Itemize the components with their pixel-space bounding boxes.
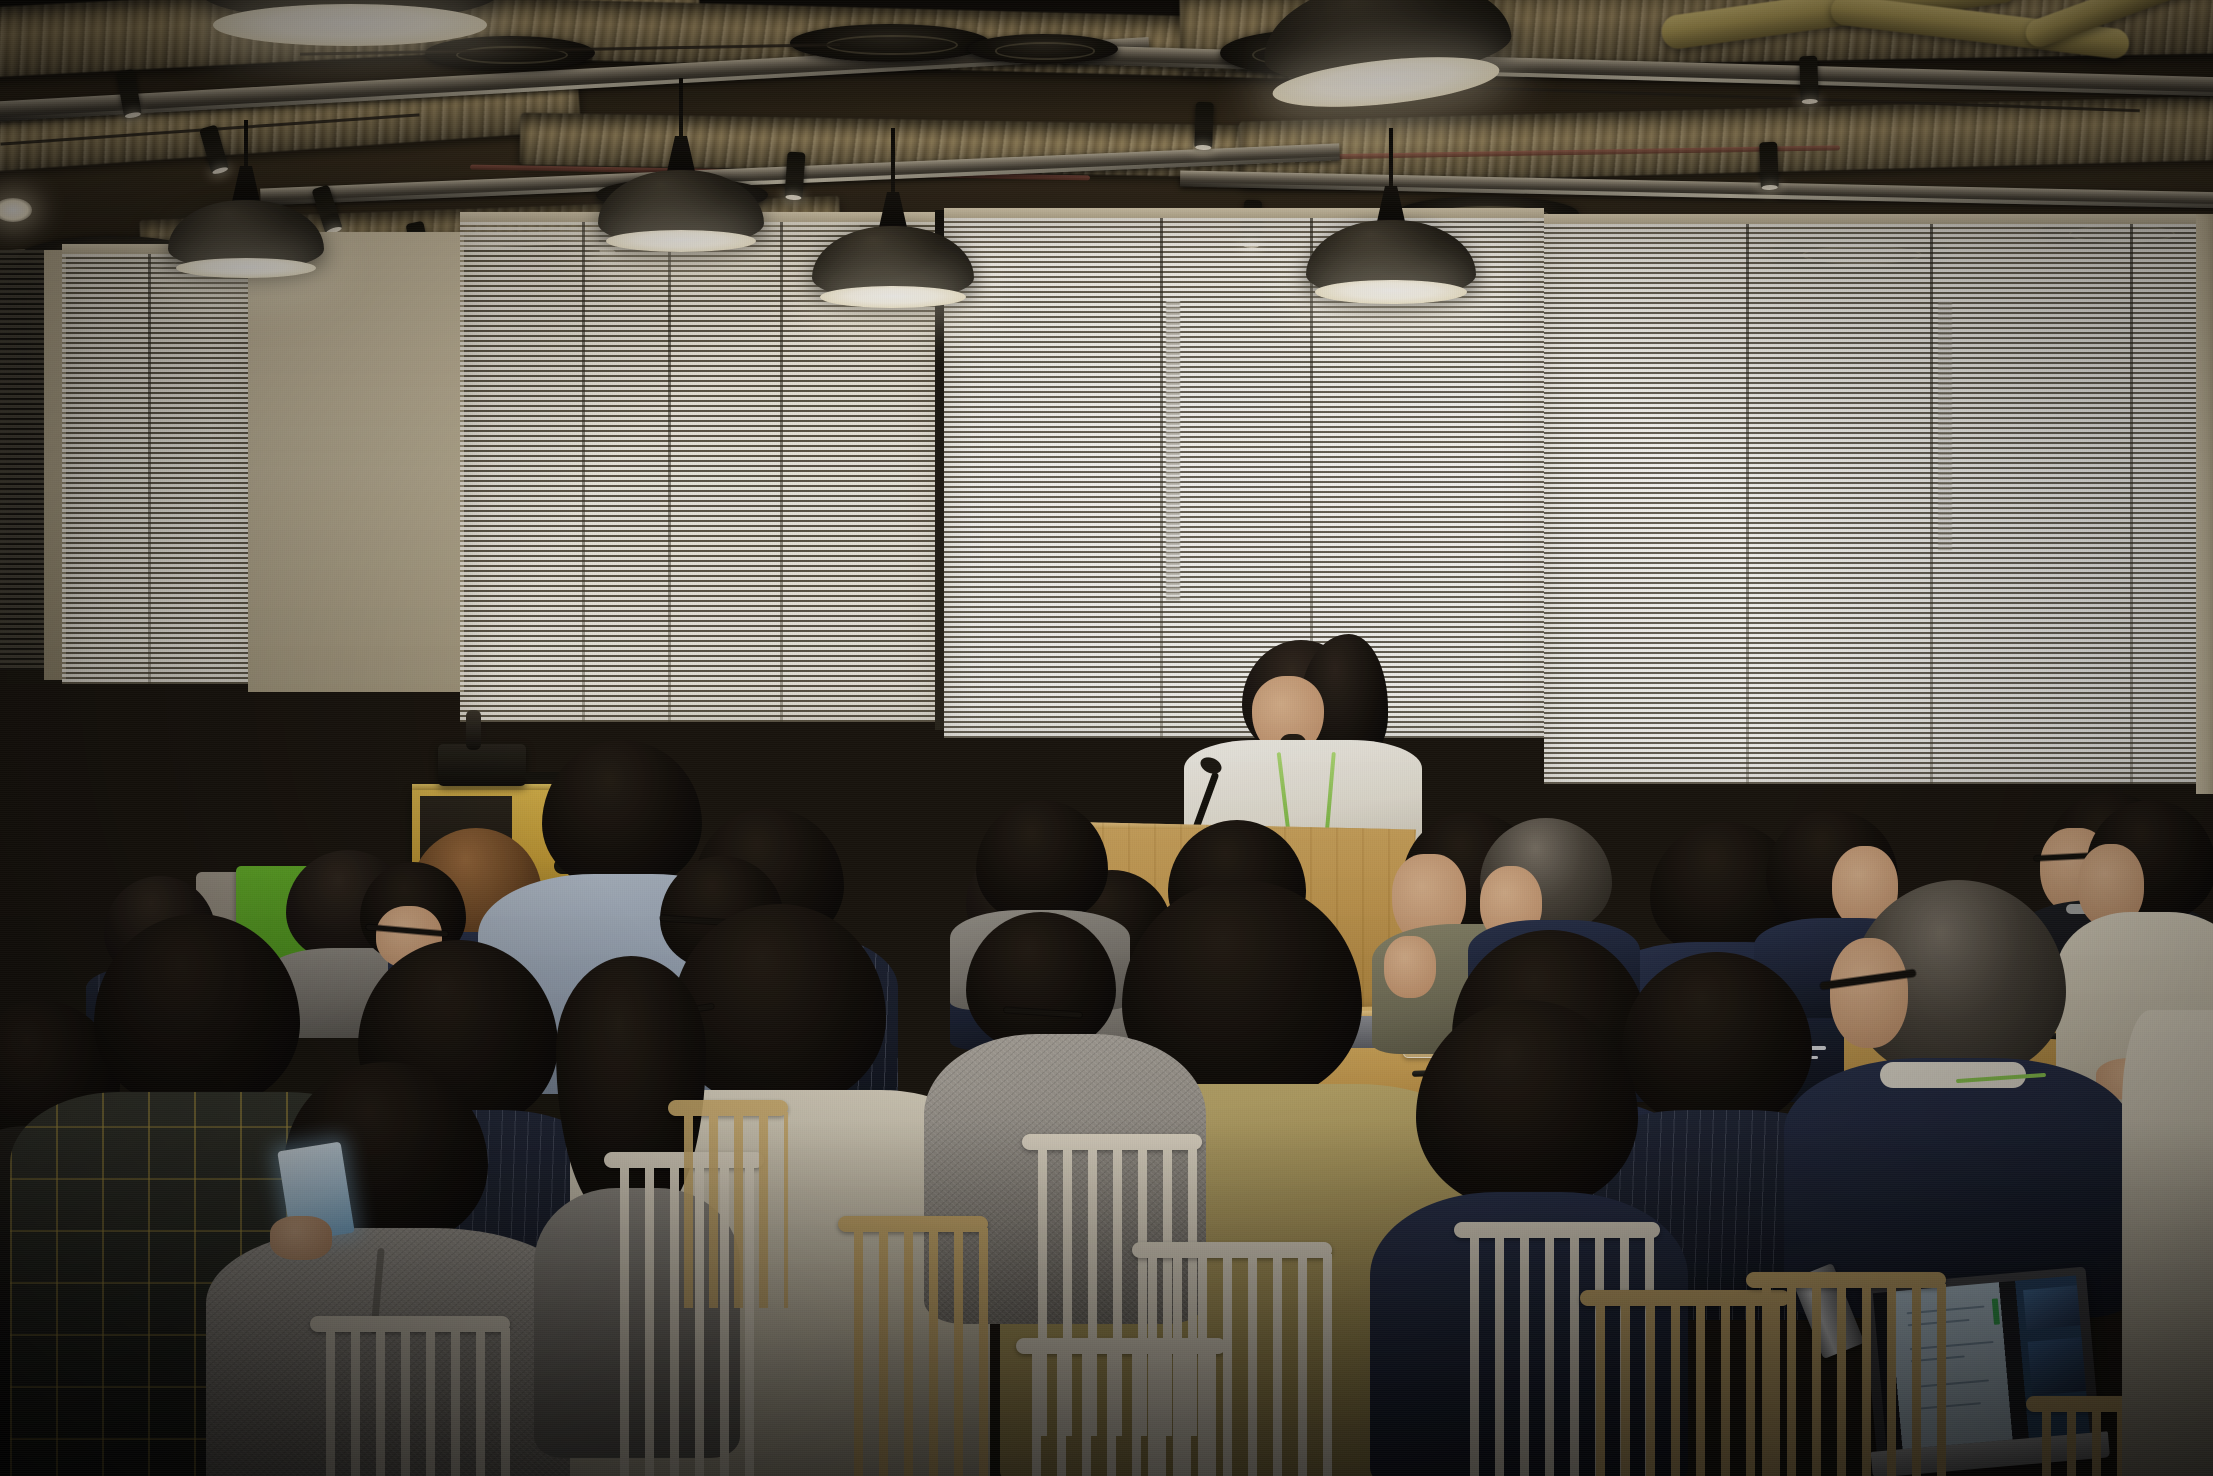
blind-seam (1746, 224, 1749, 784)
lamp-cord (679, 78, 683, 142)
blind-seam (582, 222, 585, 722)
blind-light-slit (1166, 300, 1180, 600)
face (1830, 938, 1908, 1048)
blind-seam (1930, 224, 1933, 784)
photo-scene: Evening tech meetup presentation in an o… (0, 0, 2213, 1476)
sidebar-photo-thumb (2023, 1285, 2080, 1330)
lamp-cord (891, 128, 895, 198)
chair-spindles (1746, 1284, 1946, 1476)
white-chair[interactable] (1132, 1242, 1332, 1476)
lamp-glow (213, 4, 487, 46)
chair-spindles (310, 1328, 510, 1476)
track-spotlight (1799, 56, 1819, 103)
blind-light-slit (1938, 300, 1952, 550)
pendant-lamp-center (812, 128, 974, 308)
lamp-cord (1389, 128, 1393, 192)
green-highlight-marker (1992, 1298, 2000, 1324)
blind-seam (780, 222, 783, 722)
white-chair[interactable] (310, 1316, 510, 1476)
head (966, 912, 1116, 1052)
pendant-lamp-center-left (598, 78, 764, 258)
partition-wall-left (248, 232, 464, 692)
lamp-glow (176, 258, 316, 278)
pendant-lamp-right (1306, 128, 1476, 308)
blind-seam (1160, 218, 1163, 738)
pendant-lamp-top-left (200, 0, 500, 90)
chair-spindles (668, 1112, 788, 1308)
lamp-glow (820, 286, 966, 308)
sidebar-photo-thumb (2028, 1337, 2087, 1396)
head (1416, 1000, 1638, 1210)
track-spotlight (1194, 102, 1214, 149)
handheld-microphone[interactable] (466, 710, 481, 750)
lamp-glow (606, 230, 756, 252)
track-spotlight (1759, 142, 1779, 189)
blind-seam (668, 222, 671, 722)
pendant-lamp-top-right (1262, 10, 1510, 130)
hand-holding-phone (270, 1216, 332, 1260)
wall-pillar (2196, 214, 2213, 794)
wooden-chair[interactable] (1746, 1272, 1946, 1476)
blind-seam (2130, 224, 2133, 784)
wooden-chair[interactable] (668, 1100, 788, 1300)
window-blinds-right (1544, 224, 2213, 784)
small-spot-light (0, 198, 32, 222)
wooden-chair[interactable] (838, 1216, 988, 1476)
torso (2122, 1010, 2213, 1476)
round-vent-diffuser (968, 34, 1118, 64)
blind-seam (148, 254, 151, 684)
dark-window-panel (0, 250, 48, 670)
track-spotlight (784, 151, 805, 198)
audience-member-edge-right (2122, 1010, 2213, 1476)
lamp-glow (1315, 280, 1467, 304)
chair-spindles (838, 1228, 988, 1476)
chair-spindles (1132, 1254, 1332, 1476)
lamp-cord (244, 120, 248, 172)
window-blinds-left (62, 254, 252, 684)
audience-member-saltpepper-right (1806, 880, 2106, 1300)
pendant-lamp-upper-left (168, 120, 324, 300)
